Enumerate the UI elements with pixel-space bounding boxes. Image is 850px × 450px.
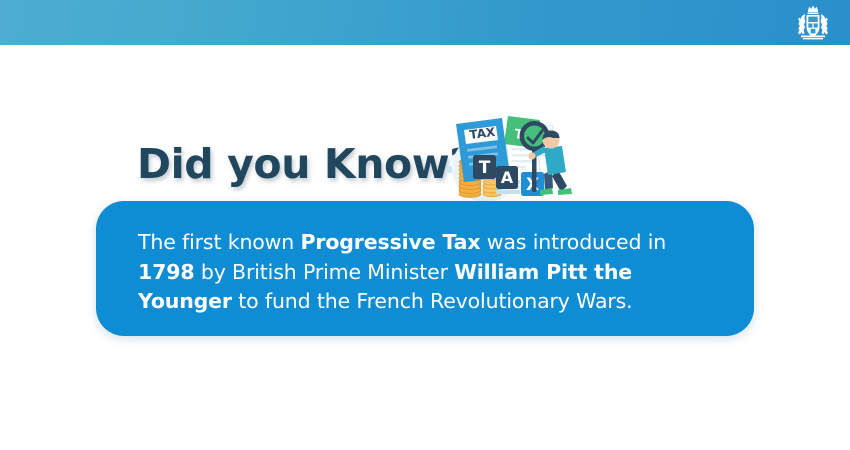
svg-text:T: T — [479, 158, 491, 178]
fact-text-emphasis: 1798 — [138, 260, 194, 284]
letter-tile-t: T — [473, 155, 496, 179]
header-bar — [0, 0, 850, 45]
fact-text-plain: The first known — [138, 230, 301, 254]
page-title: Did you Know? — [137, 140, 473, 188]
coat-of-arms-crest-icon — [790, 3, 836, 42]
tax-documents-illustration: TAX — [440, 100, 580, 210]
fact-text-plain: by British Prime Minister — [194, 260, 454, 284]
fact-text: The first known Progressive Tax was intr… — [138, 228, 718, 317]
fact-text-plain: to fund the French Revolutionary Wars. — [232, 289, 633, 313]
svg-text:A: A — [501, 168, 514, 187]
fact-text-emphasis: Progressive Tax — [301, 230, 481, 254]
fact-text-plain: was introduced in — [480, 230, 666, 254]
fact-card: The first known Progressive Tax was intr… — [96, 201, 754, 336]
letter-tile-a: A — [496, 166, 518, 189]
